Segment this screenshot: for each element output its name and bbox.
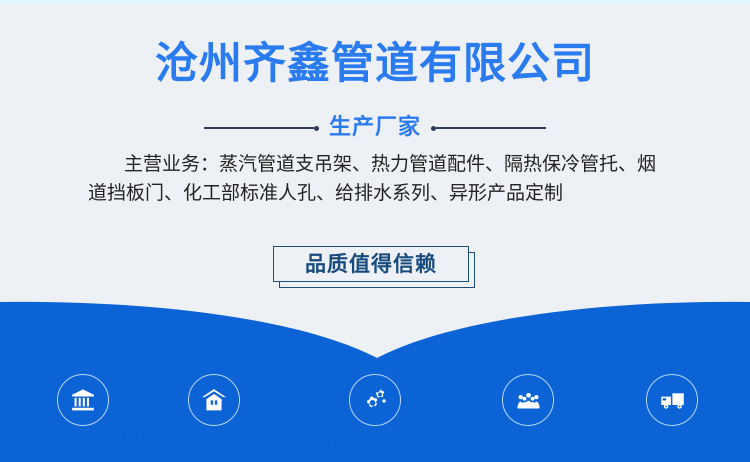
watermark-artifact-3: · · · · [600,430,624,442]
decorative-line-left [204,127,314,129]
decorative-dot-left [314,126,319,131]
factory-house-icon [201,387,227,413]
bank-building-icon [70,387,96,413]
icon-circle-factory-house[interactable] [188,374,240,426]
quality-badge-text: 品质值得信赖 [305,252,437,276]
watermark-artifact-2: · · · · [330,438,354,450]
subtitle-text: 生产厂家 [319,115,431,141]
company-title: 沧州齐鑫管道有限公司 [0,38,750,90]
subtitle-row: 生产厂家 [0,112,750,144]
gears-icon [362,387,389,414]
icon-circle-bank-building[interactable] [57,374,109,426]
quality-badge-inner-border: 品质值得信赖 [273,246,469,282]
business-description: 主营业务：蒸汽管道支吊架、热力管道配件、隔热保冷管托、烟道挡板门、化工部标准人孔… [88,150,666,208]
banner-upper-section: 沧州齐鑫管道有限公司 生产厂家 主营业务：蒸汽管道支吊架、热力管道配件、隔热保冷… [0,0,750,302]
promotional-banner: 沧州齐鑫管道有限公司 生产厂家 主营业务：蒸汽管道支吊架、热力管道配件、隔热保冷… [0,0,750,462]
quality-badge: 品质值得信赖 [273,246,479,288]
icon-circle-gears[interactable] [349,374,401,426]
decorative-line-right [436,127,546,129]
feature-icon-row [0,374,750,430]
team-people-icon [515,387,542,414]
icon-circle-delivery-truck[interactable] [646,374,698,426]
watermark-artifact-1: · · · · [118,432,142,444]
icon-circle-team-people[interactable] [502,374,554,426]
delivery-truck-icon [659,387,686,414]
